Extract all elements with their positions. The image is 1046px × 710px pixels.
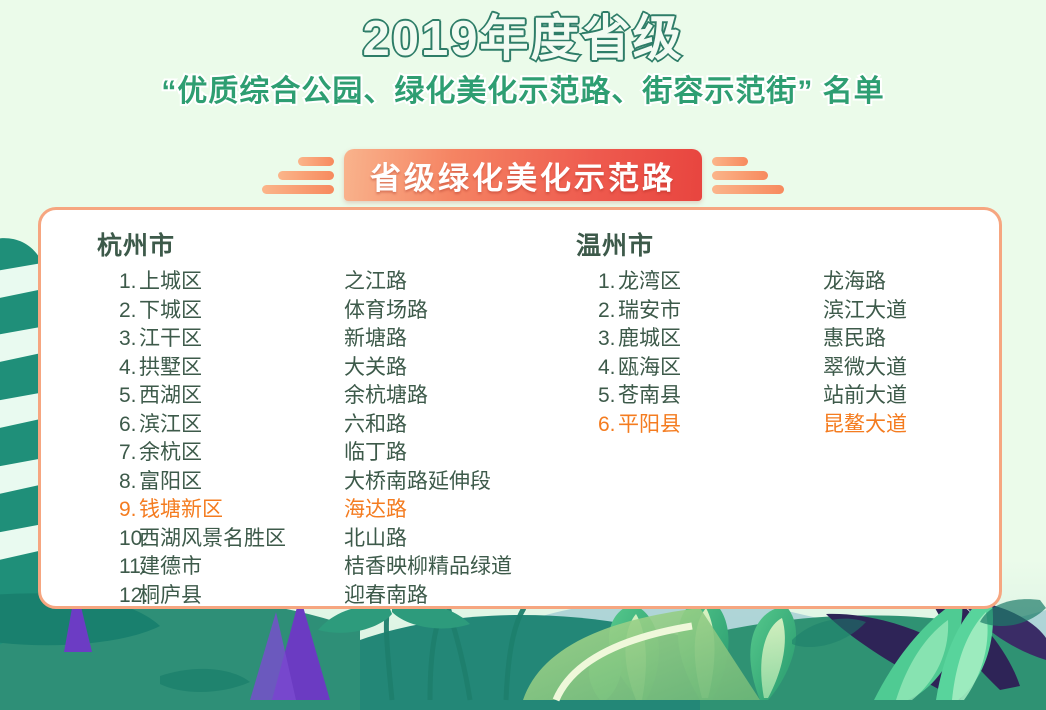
city-column-hangzhou: 杭州市 1.上城区之江路2.下城区体育场路3.江干区新塘路4.拱墅区大关路5.西… <box>41 226 520 606</box>
row-road: 之江路 <box>344 268 407 297</box>
dash-mark <box>298 157 334 166</box>
list-row: 3.江干区新塘路 <box>97 325 520 354</box>
city-title: 温州市 <box>576 226 999 262</box>
list-row: 4.瓯海区翠微大道 <box>576 354 999 383</box>
row-district: 鹿城区 <box>618 325 823 354</box>
entry-list: 1.龙湾区龙海路2.瑞安市滨江大道3.鹿城区惠民路4.瓯海区翠微大道5.苍南县站… <box>576 268 999 439</box>
dash-mark <box>278 171 334 180</box>
row-district: 建德市 <box>139 553 344 582</box>
row-district: 瑞安市 <box>618 297 823 326</box>
row-district: 龙湾区 <box>618 268 823 297</box>
row-district: 平阳县 <box>618 411 823 440</box>
list-row: 9.钱塘新区海达路 <box>97 496 520 525</box>
list-row: 1.上城区之江路 <box>97 268 520 297</box>
list-row: 12.桐庐县迎春南路 <box>97 582 520 611</box>
row-index: 8. <box>97 468 139 497</box>
row-index: 11. <box>97 553 139 582</box>
dash-mark <box>712 157 748 166</box>
row-district: 下城区 <box>139 297 344 326</box>
plant-cluster-center <box>589 596 796 700</box>
row-district: 钱塘新区 <box>139 496 344 525</box>
main-title: 2019年度省级 <box>0 12 1046 67</box>
row-district: 拱墅区 <box>139 354 344 383</box>
row-road: 大关路 <box>344 354 407 383</box>
row-index: 3. <box>97 325 139 354</box>
dash-mark <box>262 185 334 194</box>
list-row: 7.余杭区临丁路 <box>97 439 520 468</box>
list-row: 5.西湖区余杭塘路 <box>97 382 520 411</box>
list-row: 11.建德市桔香映柳精品绿道 <box>97 553 520 582</box>
list-card: 杭州市 1.上城区之江路2.下城区体育场路3.江干区新塘路4.拱墅区大关路5.西… <box>38 207 1002 609</box>
banner-dashes-right <box>712 157 790 194</box>
road-illustration-right <box>523 608 760 700</box>
row-district: 西湖区 <box>139 382 344 411</box>
row-index: 2. <box>97 297 139 326</box>
row-index: 1. <box>97 268 139 297</box>
row-index: 1. <box>576 268 618 297</box>
row-district: 江干区 <box>139 325 344 354</box>
row-district: 瓯海区 <box>618 354 823 383</box>
row-index: 2. <box>576 297 618 326</box>
list-row: 8.富阳区大桥南路延伸段 <box>97 468 520 497</box>
row-index: 7. <box>97 439 139 468</box>
row-district: 苍南县 <box>618 382 823 411</box>
row-index: 4. <box>576 354 618 383</box>
row-road: 余杭塘路 <box>344 382 428 411</box>
row-district: 桐庐县 <box>139 582 344 611</box>
row-index: 6. <box>576 411 618 440</box>
row-index: 5. <box>576 382 618 411</box>
row-road: 翠微大道 <box>823 354 907 383</box>
row-road: 站前大道 <box>823 382 907 411</box>
row-index: 4. <box>97 354 139 383</box>
city-column-wenzhou: 温州市 1.龙湾区龙海路2.瑞安市滨江大道3.鹿城区惠民路4.瓯海区翠微大道5.… <box>520 226 999 606</box>
row-road: 新塘路 <box>344 325 407 354</box>
row-index: 3. <box>576 325 618 354</box>
row-road: 惠民路 <box>823 325 886 354</box>
row-road: 海达路 <box>344 496 407 525</box>
row-road: 体育场路 <box>344 297 428 326</box>
row-district: 西湖风景名胜区 <box>139 525 344 554</box>
row-road: 大桥南路延伸段 <box>344 468 491 497</box>
section-banner-row: 省级绿化美化示范路 <box>0 146 1046 204</box>
row-road: 桔香映柳精品绿道 <box>344 553 512 582</box>
row-index: 12. <box>97 582 139 611</box>
list-row: 5.苍南县站前大道 <box>576 382 999 411</box>
poster-root: 2019年度省级 “优质综合公园、绿化美化示范路、街容示范街” 名单 省级绿化美… <box>0 0 1046 710</box>
row-road: 迎春南路 <box>344 582 428 611</box>
row-index: 5. <box>97 382 139 411</box>
row-district: 富阳区 <box>139 468 344 497</box>
list-row: 6.滨江区六和路 <box>97 411 520 440</box>
row-index: 6. <box>97 411 139 440</box>
list-card-inner: 杭州市 1.上城区之江路2.下城区体育场路3.江干区新塘路4.拱墅区大关路5.西… <box>41 210 999 606</box>
list-row: 1.龙湾区龙海路 <box>576 268 999 297</box>
list-row: 6.平阳县昆鳌大道 <box>576 411 999 440</box>
list-row: 4.拱墅区大关路 <box>97 354 520 383</box>
row-district: 上城区 <box>139 268 344 297</box>
city-title: 杭州市 <box>97 226 520 262</box>
row-road: 昆鳌大道 <box>823 411 907 440</box>
section-banner-label: 省级绿化美化示范路 <box>370 153 676 198</box>
row-district: 滨江区 <box>139 411 344 440</box>
row-road: 临丁路 <box>344 439 407 468</box>
list-row: 2.下城区体育场路 <box>97 297 520 326</box>
list-row: 2.瑞安市滨江大道 <box>576 297 999 326</box>
entry-list: 1.上城区之江路2.下城区体育场路3.江干区新塘路4.拱墅区大关路5.西湖区余杭… <box>97 268 520 610</box>
section-banner: 省级绿化美化示范路 <box>344 149 702 201</box>
list-row: 3.鹿城区惠民路 <box>576 325 999 354</box>
row-road: 北山路 <box>344 525 407 554</box>
dash-mark <box>712 185 784 194</box>
row-district: 余杭区 <box>139 439 344 468</box>
row-road: 滨江大道 <box>823 297 907 326</box>
dash-mark <box>712 171 768 180</box>
row-index: 9. <box>97 496 139 525</box>
row-index: 10. <box>97 525 139 554</box>
row-road: 六和路 <box>344 411 407 440</box>
title-block: 2019年度省级 “优质综合公园、绿化美化示范路、街容示范街” 名单 <box>0 12 1046 110</box>
row-road: 龙海路 <box>823 268 886 297</box>
banner-dashes-left <box>256 157 334 194</box>
sub-title: “优质综合公园、绿化美化示范路、街容示范街” 名单 <box>0 73 1046 111</box>
list-row: 10.西湖风景名胜区北山路 <box>97 525 520 554</box>
